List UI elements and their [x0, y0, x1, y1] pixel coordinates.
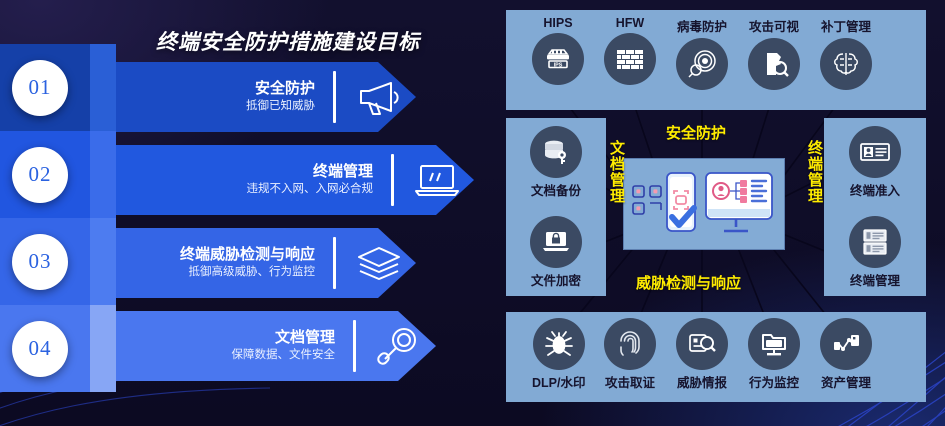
goal-subtext: 违规不入网、入网必合规 [116, 181, 373, 198]
attack-visibility-icon [748, 38, 800, 90]
node-label: HIPS [543, 16, 572, 30]
architecture-diagram: HIPS IPS HFW [490, 0, 945, 426]
node-hfw[interactable]: HFW [604, 16, 656, 85]
laptop-lock-icon [530, 216, 582, 268]
fingerprint-icon [604, 318, 656, 370]
node-label: 威胁情报 [677, 372, 727, 391]
layers-icon [342, 244, 416, 282]
category-label-right: 终端管理 [806, 140, 822, 204]
virus-scan-target-icon [676, 38, 728, 90]
goals-panel: 终端安全防护措施建设目标 01 安全防护 抵御已知威胁 [0, 0, 490, 426]
category-label-left: 文档管理 [608, 140, 624, 204]
node-label: 行为监控 [749, 372, 799, 391]
goal-subtext: 抵御高级威胁、行为监控 [116, 264, 315, 281]
node-attack-visibility[interactable]: 攻击可视 [748, 16, 800, 90]
laptop-icon [400, 163, 474, 197]
step-number-block-1: 01 [0, 44, 90, 131]
slide-canvas: 终端安全防护措施建设目标 01 安全防护 抵御已知威胁 [0, 0, 945, 426]
svg-text:IPS: IPS [554, 62, 563, 68]
step-number-block-3: 03 [0, 218, 90, 305]
node-terminal-management[interactable]: 终端管理 [849, 216, 901, 289]
goal-subtext: 抵御已知威胁 [116, 98, 315, 115]
step-number-label: 02 [29, 162, 52, 187]
step-number-block-4: 04 [0, 305, 90, 392]
goal-text-4: 文档管理 保障数据、文件安全 [116, 328, 347, 364]
node-attack-forensics[interactable]: 攻击取证 [604, 318, 656, 391]
megaphone-icon [342, 78, 416, 116]
id-card-icon [849, 126, 901, 178]
goal-heading: 终端管理 [116, 162, 373, 181]
goal-arrow-1[interactable]: 安全防护 抵御已知威胁 [116, 62, 416, 132]
step-number-label: 03 [29, 249, 52, 274]
goal-heading: 终端威胁检测与响应 [116, 245, 315, 264]
goal-text-3: 终端威胁检测与响应 抵御高级威胁、行为监控 [116, 245, 327, 281]
node-dlp-watermark[interactable]: DLP/水印 [532, 318, 585, 391]
goal-subtext: 保障数据、文件安全 [116, 347, 335, 364]
goal-arrow-3[interactable]: 终端威胁检测与响应 抵御高级威胁、行为监控 [116, 228, 416, 298]
server-rack-icon [849, 216, 901, 268]
node-label: 资产管理 [821, 372, 871, 391]
database-key-icon [530, 126, 582, 178]
goal-heading: 文档管理 [116, 328, 335, 347]
asset-chart-icon [820, 318, 872, 370]
node-terminal-access[interactable]: 终端准入 [849, 126, 901, 199]
node-label: 终端管理 [850, 270, 900, 289]
center-illustration-card [623, 158, 785, 250]
step-number-circle-2: 02 [12, 147, 68, 203]
threat-intel-search-icon [676, 318, 728, 370]
node-virus-protection[interactable]: 病毒防护 [676, 16, 728, 90]
node-patch-management[interactable]: 补丁管理 [820, 16, 872, 90]
node-hips[interactable]: HIPS IPS [532, 16, 584, 85]
node-file-encryption[interactable]: 文件加密 [530, 216, 582, 289]
node-label: 文档备份 [531, 180, 581, 199]
bug-icon [533, 318, 585, 370]
page-title: 终端安全防护措施建设目标 [118, 26, 458, 56]
node-label: 文件加密 [531, 270, 581, 289]
goal-text-1: 安全防护 抵御已知威胁 [116, 79, 327, 115]
node-label: 攻击取证 [605, 372, 655, 391]
brain-patch-icon [820, 38, 872, 90]
goal-arrow-2[interactable]: 终端管理 违规不入网、入网必合规 [116, 145, 474, 215]
step-number-circle-4: 04 [12, 321, 68, 377]
divider [333, 71, 336, 123]
node-label: 补丁管理 [821, 16, 871, 35]
magnifier-icon [362, 326, 436, 366]
category-label-top: 安全防护 [666, 122, 726, 143]
node-label: 终端准入 [850, 180, 900, 199]
node-label: HFW [616, 16, 644, 30]
divider [333, 237, 336, 289]
step-number-label: 04 [29, 336, 52, 361]
goal-heading: 安全防护 [116, 79, 315, 98]
firewall-brick-icon [604, 33, 656, 85]
goal-arrow-4[interactable]: 文档管理 保障数据、文件安全 [116, 311, 436, 381]
goal-text-2: 终端管理 违规不入网、入网必合规 [116, 162, 385, 198]
ips-appliance-icon: IPS [532, 33, 584, 85]
category-label-bottom: 威胁检测与响应 [636, 272, 741, 293]
node-label: DLP/水印 [532, 372, 585, 391]
step-number-block-2: 02 [0, 131, 90, 218]
step-number-label: 01 [29, 75, 52, 100]
divider [353, 320, 356, 372]
step-number-circle-1: 01 [12, 60, 68, 116]
node-label: 攻击可视 [749, 16, 799, 35]
node-asset-management[interactable]: 资产管理 [820, 318, 872, 391]
node-threat-intelligence[interactable]: 威胁情报 [676, 318, 728, 391]
step-number-circle-3: 03 [12, 234, 68, 290]
phone-desktop-checklist-icon [624, 159, 784, 249]
node-behavior-monitoring[interactable]: 行为监控 [748, 318, 800, 391]
folder-monitor-icon [748, 318, 800, 370]
divider [391, 154, 394, 206]
node-document-backup[interactable]: 文档备份 [530, 126, 582, 199]
node-label: 病毒防护 [677, 16, 727, 35]
